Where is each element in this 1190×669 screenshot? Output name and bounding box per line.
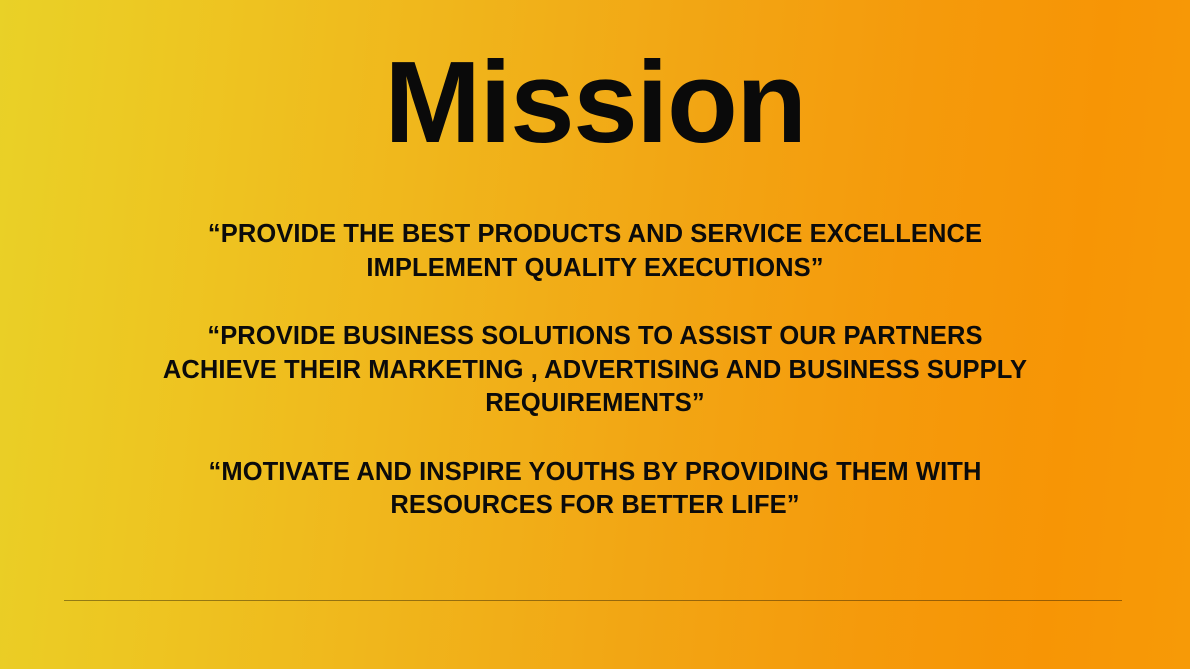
mission-statement-line: ACHIEVE THEIR MARKETING , ADVERTISING AN… bbox=[145, 354, 1045, 388]
mission-statement-list: “PROVIDE THE BEST PRODUCTS AND SERVICE E… bbox=[0, 218, 1190, 523]
mission-statement: “MOTIVATE AND INSPIRE YOUTHS BY PROVIDIN… bbox=[145, 456, 1045, 523]
mission-statement-line: “PROVIDE BUSINESS SOLUTIONS TO ASSIST OU… bbox=[145, 320, 1045, 354]
page-title: Mission bbox=[0, 38, 1190, 168]
mission-slide: Mission “PROVIDE THE BEST PRODUCTS AND S… bbox=[0, 0, 1190, 669]
mission-statement: “PROVIDE THE BEST PRODUCTS AND SERVICE E… bbox=[145, 218, 1045, 285]
mission-statement-line: RESOURCES FOR BETTER LIFE” bbox=[145, 489, 1045, 523]
slide-content: Mission “PROVIDE THE BEST PRODUCTS AND S… bbox=[0, 0, 1190, 669]
mission-statement-line: REQUIREMENTS” bbox=[145, 387, 1045, 421]
mission-statement: “PROVIDE BUSINESS SOLUTIONS TO ASSIST OU… bbox=[145, 320, 1045, 421]
mission-statement-line: IMPLEMENT QUALITY EXECUTIONS” bbox=[145, 252, 1045, 286]
mission-statement-line: “PROVIDE THE BEST PRODUCTS AND SERVICE E… bbox=[145, 218, 1045, 252]
footer-divider bbox=[64, 600, 1122, 601]
mission-statement-line: “MOTIVATE AND INSPIRE YOUTHS BY PROVIDIN… bbox=[145, 456, 1045, 490]
